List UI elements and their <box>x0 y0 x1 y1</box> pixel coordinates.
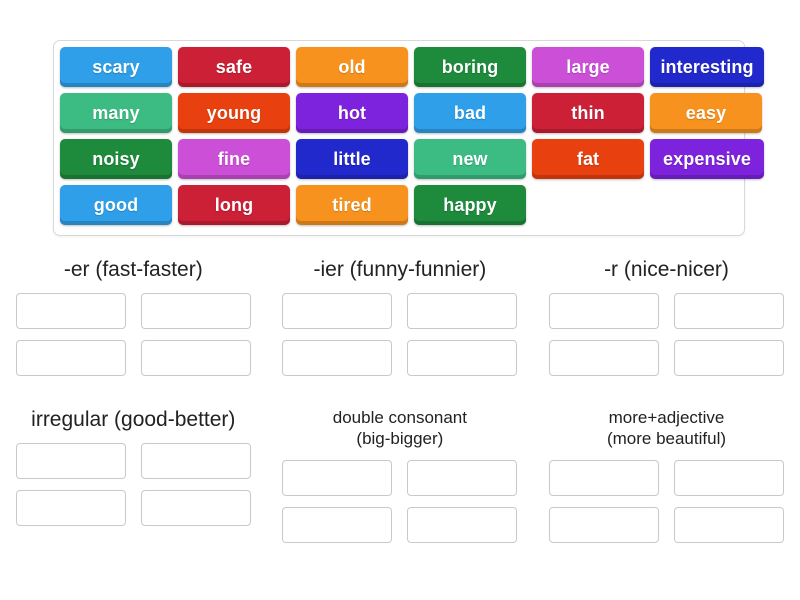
category-r: -r (nice-nicer) <box>533 258 800 376</box>
drop-slot-grid-ier <box>282 293 517 376</box>
drop-slot[interactable] <box>141 490 251 526</box>
category-more-adjective: more+adjective (more beautiful) <box>533 408 800 543</box>
drop-slot[interactable] <box>141 443 251 479</box>
drop-slot-grid-irregular <box>16 443 251 526</box>
drop-slot[interactable] <box>407 507 517 543</box>
tile-row: goodlongtiredhappy <box>60 185 739 225</box>
word-tile-interesting[interactable]: interesting <box>650 47 764 87</box>
drop-slot-grid-er <box>16 293 251 376</box>
drop-slot[interactable] <box>674 293 784 329</box>
word-tile-happy[interactable]: happy <box>414 185 526 225</box>
word-tile-hot[interactable]: hot <box>296 93 408 133</box>
category-title-more-adjective: more+adjective (more beautiful) <box>603 408 730 449</box>
word-tile-scary[interactable]: scary <box>60 47 172 87</box>
tile-row: scarysafeoldboringlargeinteresting <box>60 47 739 87</box>
drop-slot[interactable] <box>549 340 659 376</box>
drop-slot[interactable] <box>16 293 126 329</box>
drop-slot[interactable] <box>674 340 784 376</box>
word-tile-expensive[interactable]: expensive <box>650 139 764 179</box>
drop-slot[interactable] <box>16 490 126 526</box>
drop-slot[interactable] <box>674 507 784 543</box>
category-title-double-consonant: double consonant (big-bigger) <box>329 408 471 449</box>
word-tile-large[interactable]: large <box>532 47 644 87</box>
drop-slot[interactable] <box>549 460 659 496</box>
category-row-top: -er (fast-faster)-ier (funny-funnier)-r … <box>0 258 800 376</box>
word-tile-new[interactable]: new <box>414 139 526 179</box>
drop-slot[interactable] <box>407 460 517 496</box>
word-tile-thin[interactable]: thin <box>532 93 644 133</box>
category-er: -er (fast-faster) <box>0 258 267 376</box>
drop-slot[interactable] <box>282 293 392 329</box>
word-tile-safe[interactable]: safe <box>178 47 290 87</box>
drop-slot[interactable] <box>282 507 392 543</box>
word-tile-fat[interactable]: fat <box>532 139 644 179</box>
tile-row: noisyfinelittlenewfatexpensive <box>60 139 739 179</box>
drop-slot-grid-more-adjective <box>549 460 784 543</box>
word-tile-tired[interactable]: tired <box>296 185 408 225</box>
word-tile-young[interactable]: young <box>178 93 290 133</box>
word-tile-noisy[interactable]: noisy <box>60 139 172 179</box>
word-tile-easy[interactable]: easy <box>650 93 762 133</box>
drop-slot[interactable] <box>549 293 659 329</box>
word-tile-good[interactable]: good <box>60 185 172 225</box>
drop-slot[interactable] <box>282 460 392 496</box>
word-bank-panel: scarysafeoldboringlargeinterestingmanyyo… <box>53 40 745 236</box>
category-irregular: irregular (good-better) <box>0 408 267 543</box>
drop-slot[interactable] <box>549 507 659 543</box>
word-tile-many[interactable]: many <box>60 93 172 133</box>
word-tile-fine[interactable]: fine <box>178 139 290 179</box>
category-title-er: -er (fast-faster) <box>60 258 207 282</box>
drop-slot[interactable] <box>141 293 251 329</box>
drop-slot[interactable] <box>141 340 251 376</box>
word-tile-bad[interactable]: bad <box>414 93 526 133</box>
drop-slot[interactable] <box>282 340 392 376</box>
drop-slot[interactable] <box>674 460 784 496</box>
category-double-consonant: double consonant (big-bigger) <box>267 408 534 543</box>
category-title-irregular: irregular (good-better) <box>27 408 239 432</box>
category-title-ier: -ier (funny-funnier) <box>310 258 491 282</box>
word-tile-boring[interactable]: boring <box>414 47 526 87</box>
word-tile-old[interactable]: old <box>296 47 408 87</box>
drop-slot[interactable] <box>16 340 126 376</box>
drop-slot-grid-r <box>549 293 784 376</box>
drop-slot[interactable] <box>16 443 126 479</box>
drop-slot[interactable] <box>407 293 517 329</box>
category-title-r: -r (nice-nicer) <box>600 258 733 282</box>
category-ier: -ier (funny-funnier) <box>267 258 534 376</box>
drop-slot[interactable] <box>407 340 517 376</box>
word-tile-little[interactable]: little <box>296 139 408 179</box>
drop-slot-grid-double-consonant <box>282 460 517 543</box>
tile-row: manyyounghotbadthineasy <box>60 93 739 133</box>
word-tile-long[interactable]: long <box>178 185 290 225</box>
category-row-bottom: irregular (good-better)double consonant … <box>0 408 800 543</box>
